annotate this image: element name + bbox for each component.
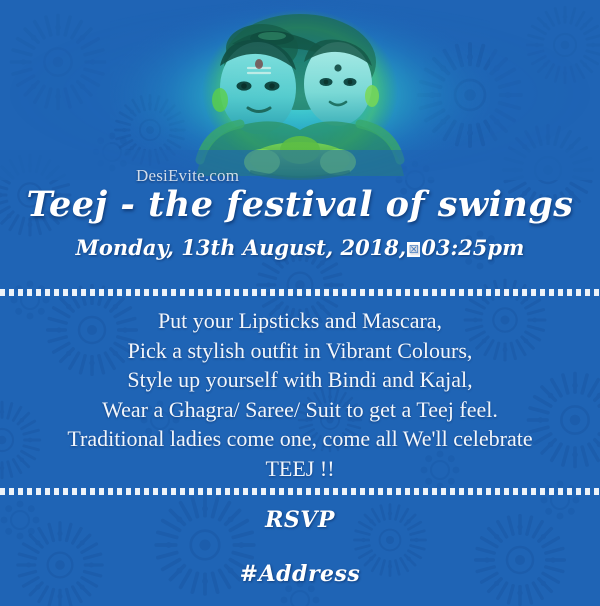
card-content: DesiEvite.com Teej - the festival of swi… <box>0 0 600 606</box>
message-line: Pick a stylish outfit in Vibrant Colours… <box>0 336 600 366</box>
invitation-message: Put your Lipsticks and Mascara, Pick a s… <box>0 306 600 483</box>
rsvp-label: RSVP <box>0 507 600 533</box>
missing-glyph-icon: ☒ <box>407 242 420 257</box>
invitation-card: DesiEvite.com Teej - the festival of swi… <box>0 0 600 606</box>
event-datetime: Monday, 13th August, 2018,☒03:25pm <box>0 233 600 263</box>
message-line: TEEJ !! <box>0 454 600 484</box>
desievite-watermark: DesiEvite.com <box>136 166 239 186</box>
message-line: Wear a Ghagra/ Saree/ Suit to get a Teej… <box>0 395 600 425</box>
message-line: Style up yourself with Bindi and Kajal, <box>0 365 600 395</box>
message-line: Traditional ladies come one, come all We… <box>0 424 600 454</box>
address-label: #Address <box>0 561 600 587</box>
message-line: Put your Lipsticks and Mascara, <box>0 306 600 336</box>
page-title: Teej - the festival of swings <box>0 184 600 226</box>
event-time: 03:25pm <box>421 235 524 260</box>
divider-bottom <box>0 488 600 495</box>
divider-top <box>0 289 600 296</box>
event-date: Monday, 13th August, 2018, <box>76 235 407 260</box>
